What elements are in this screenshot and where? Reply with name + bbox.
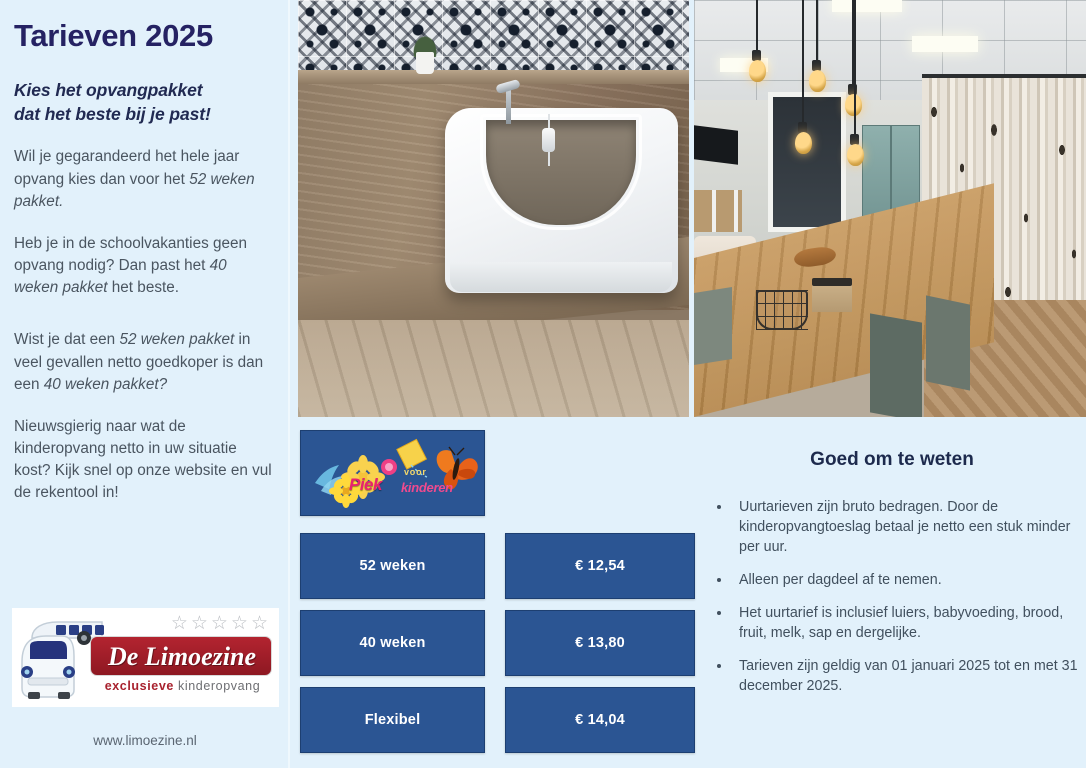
limoezine-logo: ☆☆☆☆☆ De Limoezine exclusieve (12, 608, 279, 707)
piek-voor-kinderen-logo: Piek voor kinderen (300, 430, 485, 516)
table-row-package-1: 40 weken (300, 610, 485, 676)
table-row-package-2: Flexibel (300, 687, 485, 753)
paragraph-wist-je-dat: Wist je dat een 52 weken pakket in veel … (14, 329, 274, 396)
paragraph-text: Wist je dat een (14, 331, 119, 348)
list-item: Het uurtarief is inclusief luiers, babyv… (732, 603, 1078, 643)
piek-logo-artwork (301, 431, 485, 516)
table-row-price-1: € 13,80 (505, 610, 695, 676)
pendant-cord (756, 0, 758, 56)
plant-pot (416, 52, 434, 74)
light-bulb-icon (749, 60, 766, 82)
paragraph-emphasis: 52 weken pakket (119, 331, 234, 348)
list-item: Alleen per dagdeel af te nemen. (732, 570, 1078, 590)
table-row-price-0: € 12,54 (505, 533, 695, 599)
logo-tagline: exclusieve kinderopvang (90, 679, 275, 693)
subtitle-line-1: Kies het opvangpakket (14, 79, 274, 103)
ceiling-light-panel (832, 0, 902, 12)
rating-stars-icon: ☆☆☆☆☆ (171, 614, 271, 633)
paragraph-rekentool: Nieuwsgierig naar wat de kinderopvang ne… (14, 416, 274, 505)
logo-nameplate: De Limoezine (90, 636, 272, 676)
light-bulb-icon (809, 70, 826, 92)
storage-shelf-baskets (694, 190, 742, 232)
paragraph-emphasis-2: 40 weken pakket? (44, 376, 167, 393)
control-handle (542, 128, 555, 152)
wood-floor (298, 320, 689, 417)
left-column: Tarieven 2025 Kies het opvangpakket dat … (0, 0, 290, 768)
subtitle: Kies het opvangpakket dat het beste bij … (14, 79, 274, 126)
paragraph-text: Nieuwsgierig naar wat de kinderopvang ne… (14, 418, 272, 502)
photo-interior-birch-divider (694, 0, 1086, 417)
table-row-price-2: € 14,04 (505, 687, 695, 753)
list-item: Tarieven zijn geldig van 01 januari 2025… (732, 656, 1078, 696)
photo-bathroom-baby-spa (298, 0, 689, 417)
wooden-box (812, 282, 852, 312)
ceiling-light-panel (912, 36, 978, 52)
table-row-package-0: 52 weken (300, 533, 485, 599)
wire-basket-mesh (756, 290, 808, 330)
glass-door (768, 92, 846, 232)
logo-name: De Limoezine (91, 637, 273, 677)
chair (870, 313, 922, 417)
website-url[interactable]: www.limoezine.nl (0, 733, 290, 748)
logo-tagline-rest: kinderopvang (174, 679, 260, 693)
subtitle-line-2: dat het beste bij je past! (14, 103, 274, 127)
paragraph-text-tail: het beste. (108, 279, 179, 296)
box-lid (812, 278, 852, 286)
pendant-cord (854, 0, 856, 140)
info-panel: Goed om te weten Uurtarieven zijn bruto … (706, 440, 1078, 709)
light-bulb-icon (847, 144, 864, 166)
page-title: Tarieven 2025 (14, 19, 274, 53)
tub-base (450, 262, 672, 292)
pendant-cord (802, 0, 804, 128)
chair (694, 287, 732, 365)
piek-brand-name: Piek (349, 475, 382, 495)
paragraph-52-weken: Wil je gegarandeerd het hele jaar opvang… (14, 146, 274, 213)
wall-screen (694, 125, 738, 164)
paragraph-40-weken: Heb je in de schoolvakanties geen opvang… (14, 233, 274, 300)
pendant-cord (816, 0, 818, 66)
price-table: Piek voor kinderen 52 weken € 12,54 40 w… (298, 428, 696, 768)
info-panel-title: Goed om te weten (706, 449, 1078, 471)
list-item: Uurtarieven zijn bruto bedragen. Door de… (732, 497, 1078, 557)
piek-kinderen-label: kinderen (401, 480, 453, 495)
tariff-poster: Tarieven 2025 Kies het opvangpakket dat … (0, 0, 1086, 768)
wood-ledge (298, 70, 689, 84)
piek-voor-label: voor (404, 467, 427, 477)
light-bulb-icon (795, 132, 812, 154)
shower-arm (506, 86, 511, 124)
chair (926, 295, 970, 390)
info-bullet-list: Uurtarieven zijn bruto bedragen. Door de… (706, 497, 1078, 696)
logo-tagline-bold: exclusieve (105, 679, 174, 693)
